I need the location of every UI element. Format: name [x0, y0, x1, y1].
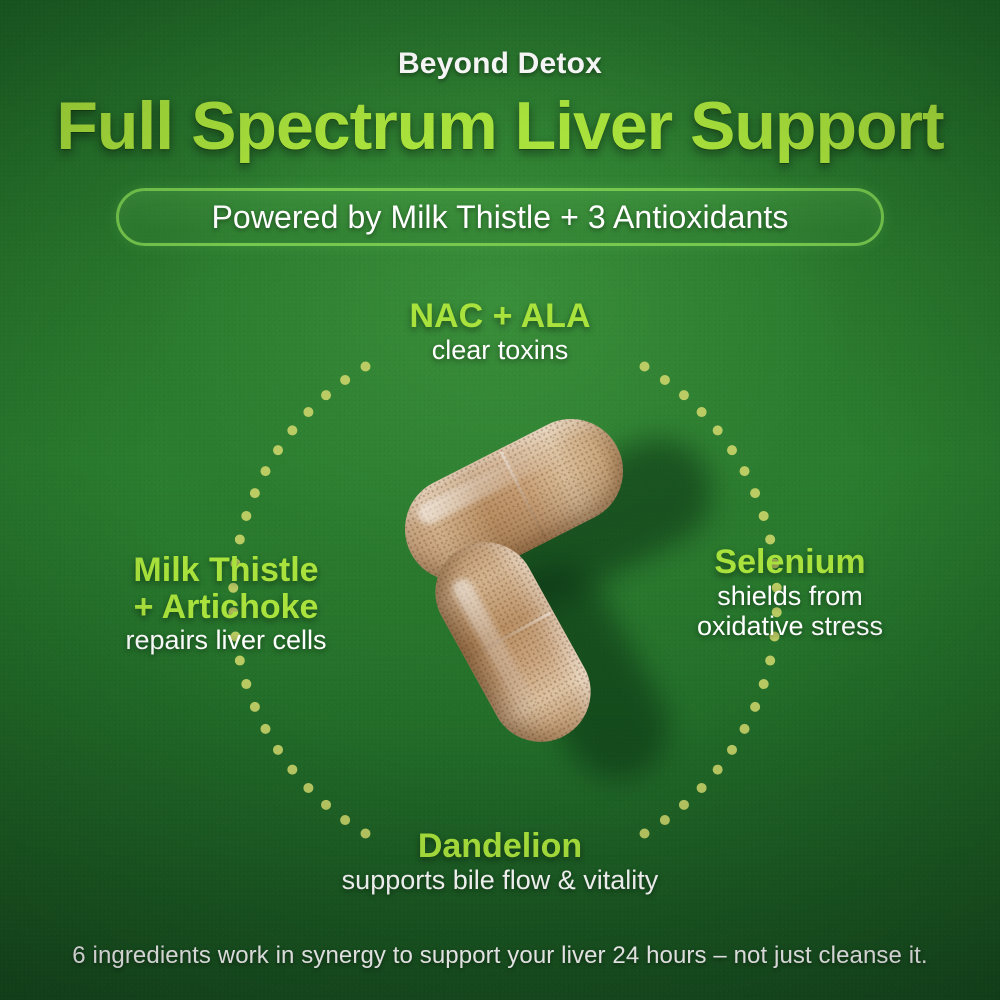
ingredient-benefit-selenium: shields from oxidative stress	[630, 581, 950, 643]
ingredient-benefit-milk-thistle-artichoke: repairs liver cells	[56, 625, 396, 656]
capsule-upper-highlight	[414, 430, 577, 528]
capsule-lower-granule-texture	[417, 524, 608, 760]
ingredient-label-nac-ala: NAC + ALA clear toxins	[0, 298, 1000, 365]
ingredient-benefit-nac-ala: clear toxins	[0, 335, 1000, 366]
ingredient-title-selenium: Selenium	[630, 544, 950, 581]
ingredient-label-selenium: Selenium shields from oxidative stress	[630, 544, 950, 642]
ingredient-benefit-dandelion: supports bile flow & vitality	[0, 865, 1000, 896]
ingredient-title-dandelion: Dandelion	[0, 828, 1000, 865]
capsule-lower-highlight	[449, 575, 545, 727]
poster-canvas: Beyond Detox Full Spectrum Liver Support…	[0, 0, 1000, 1000]
ingredient-title-nac-ala: NAC + ALA	[0, 298, 1000, 335]
page-title: Full Spectrum Liver Support	[0, 92, 1000, 160]
ingredient-label-dandelion: Dandelion supports bile flow & vitality	[0, 828, 1000, 895]
capsule-upper	[387, 401, 641, 599]
capsule-upper-granule-texture	[387, 401, 641, 599]
tagline-banner: Powered by Milk Thistle + 3 Antioxidants	[116, 188, 884, 246]
tagline-banner-text: Powered by Milk Thistle + 3 Antioxidants	[211, 199, 788, 236]
ingredient-title-milk-thistle-artichoke: Milk Thistle + Artichoke	[56, 552, 396, 625]
ingredient-label-milk-thistle-artichoke: Milk Thistle + Artichoke repairs liver c…	[56, 552, 396, 656]
capsule-lower	[417, 524, 608, 760]
footer-claim-text: 6 ingredients work in synergy to support…	[0, 942, 1000, 970]
eyebrow-text: Beyond Detox	[0, 47, 1000, 81]
